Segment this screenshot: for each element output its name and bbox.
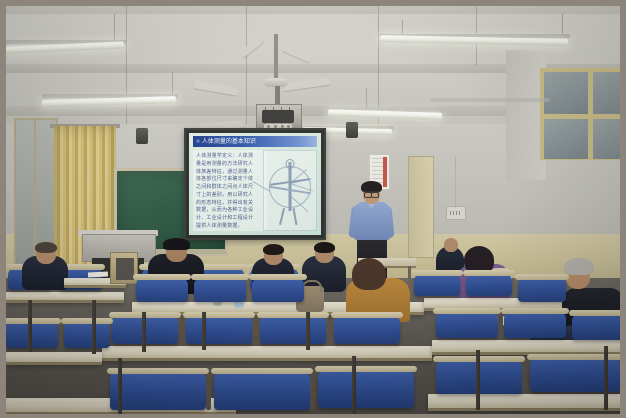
bench-frame-leg [352,356,356,414]
bench-seat[interactable] [186,316,252,344]
bench-seat[interactable] [214,372,310,410]
light-drop-rod [172,72,173,96]
seat-divider [254,318,259,344]
light-drop-rod [366,88,367,108]
ceiling-projector [262,110,294,123]
slide-line: 计、工业设计和工程设计 [196,215,264,223]
attendee-hair [35,242,57,253]
ceiling-beam [6,6,620,14]
desk-row [102,346,432,361]
attendee-hair [263,244,284,255]
classroom-photo: » 人体测量的基本知识 人体测量学定义：人体测 量是用测量的方法研究人 体族差特… [0,0,626,418]
window-pane [593,119,620,159]
presenter-shirt [354,202,390,240]
diagram-figure-torso [289,162,292,211]
slide-line: 量是用测量的方法研究人 [196,161,264,169]
ceiling-seam [378,6,379,124]
seat-divider [180,318,185,344]
desk-row [428,394,620,411]
bench-seat[interactable] [110,372,206,410]
chevron-right-icon: » [196,138,199,145]
wall-electrical-box [446,206,466,220]
slide-body-text: 人体测量学定义：人体测 量是用测量的方法研究人 体族差特征，通过测量人 体各部位… [193,150,267,231]
slide-title-bar: » 人体测量的基本知识 [193,136,317,147]
bench-seat[interactable] [504,312,566,338]
wall-speaker [136,128,148,144]
ceiling-seam [246,6,247,124]
seat-divider [310,374,315,410]
wall-cable [455,156,456,208]
seat-divider [206,374,211,410]
seat-divider [522,362,527,394]
desk-row [6,292,124,303]
bench-frame-leg [306,312,310,350]
ceiling-seam [126,6,127,124]
attendee-hair [314,242,335,253]
projection-screen: » 人体测量的基本知识 人体测量学定义：人体测 量是用测量的方法研究人 体族差特… [184,128,326,240]
bench-frame-leg [142,312,146,352]
window-pane [593,72,620,114]
light-drop-rod [562,14,563,36]
bench-seat[interactable] [466,274,512,296]
attendee-hair [564,258,594,275]
projected-slide: » 人体测量的基本知识 人体测量学定义：人体测 量是用测量的方法研究人 体族差特… [189,133,321,235]
desk-row [432,340,620,355]
seat-divider [328,318,333,344]
bench-seat[interactable] [252,278,304,302]
anthropometric-diagram [263,150,317,231]
diagram-figure-leg [293,208,298,225]
bench-seat[interactable] [260,316,326,344]
slide-line: 提供人体测量数据。 [196,223,264,231]
poster-red-stripe [383,157,387,187]
slide-line: 人体测量学定义：人体测 [196,153,264,161]
desk-row [6,352,102,365]
classroom-door[interactable] [408,156,434,258]
seat-divider [498,314,503,338]
bench-seat[interactable] [572,314,620,340]
bench-seat[interactable] [334,316,400,344]
slide-title-text: 人体测量的基本知识 [202,139,256,145]
bench-seat[interactable] [518,278,566,302]
bench-frame-leg [604,346,608,410]
window-pane [544,72,588,114]
slide-line: 寸上的差别，用以研究人 [196,192,264,200]
window-pane [544,119,588,159]
bench-frame-leg [28,300,32,352]
bench-frame-leg [476,350,480,410]
bench-frame-leg [118,358,122,414]
classroom-window [540,68,620,160]
light-housing [430,98,550,102]
bench-seat[interactable] [136,278,188,302]
ceiling-fan-pole [274,34,278,82]
bench-seat[interactable] [64,322,110,348]
slide-line: 数据，从而为各种工业设 [196,207,264,215]
bench-frame-leg [202,312,206,350]
bench-frame-leg [92,300,96,354]
wall-speaker [346,122,358,138]
photo-scene: » 人体测量的基本知识 人体测量学定义：人体测 量是用测量的方法研究人 体族差特… [6,6,620,414]
attendee-head [444,238,458,252]
presenter-glasses [364,191,379,196]
slide-line: 之间和群体之间点人体尺 [196,184,264,192]
bench-seat[interactable] [194,278,246,302]
handbag-strap [302,280,322,292]
bench-seat[interactable] [436,312,498,338]
monitor-back [116,258,134,280]
bench-seat[interactable] [318,370,414,408]
diagram-figure-leg [279,208,285,225]
bench-seat[interactable] [414,274,460,296]
attendee-hair [352,258,386,290]
window-mullion-horizontal [544,114,620,119]
paper-documents [88,271,108,277]
attendee-cap [163,238,190,250]
bench-seat[interactable] [6,322,58,348]
